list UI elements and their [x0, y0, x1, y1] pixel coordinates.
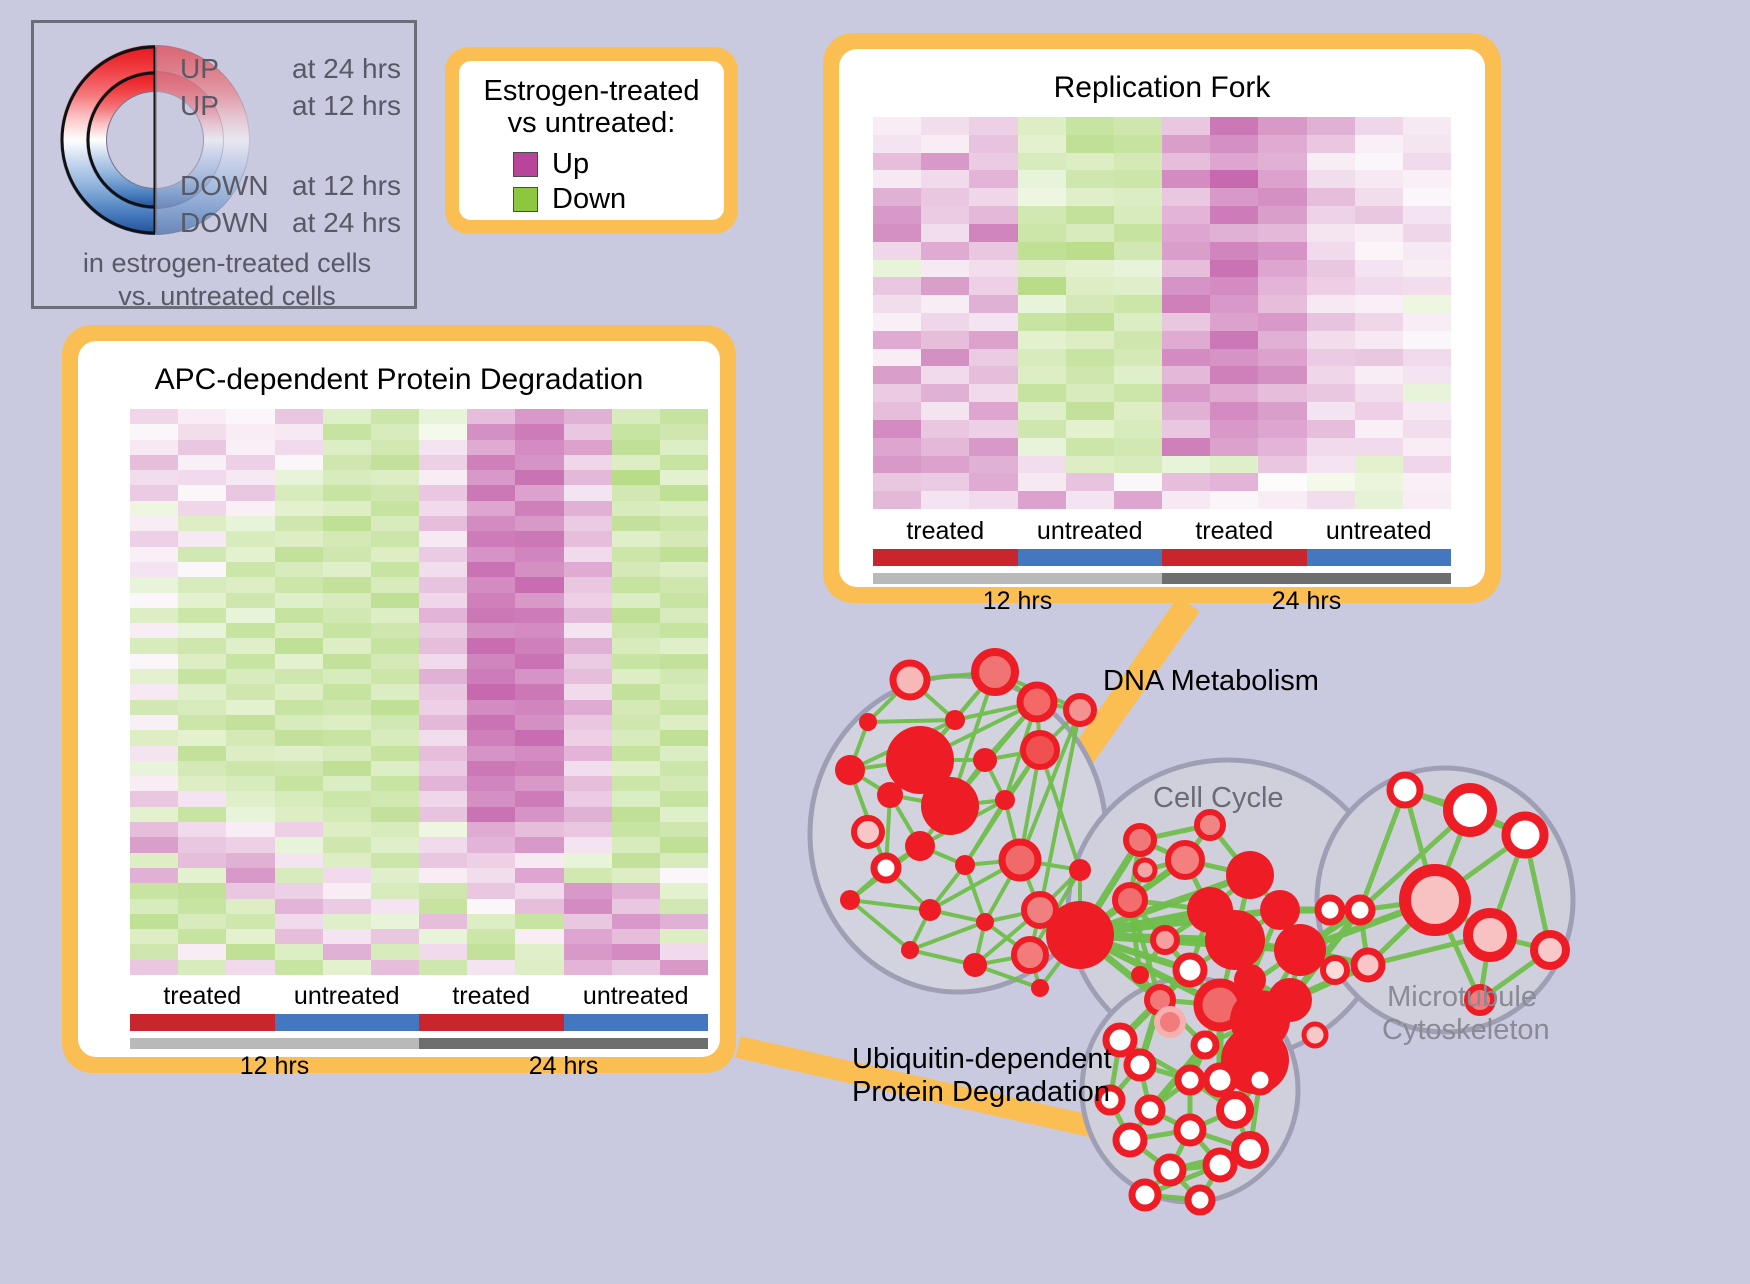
heatmap-cell — [1162, 313, 1210, 331]
heatmap-cell — [660, 700, 708, 715]
heatmap-cell — [419, 501, 467, 516]
heatmap-cell — [873, 135, 921, 153]
heatmap-cell — [1162, 153, 1210, 171]
heatmap-cell — [226, 807, 274, 822]
heatmap-cell — [275, 424, 323, 439]
heatmap-cell — [226, 684, 274, 699]
heatmap-cell — [130, 807, 178, 822]
heatmap-cell — [419, 960, 467, 975]
heatmap-cell — [275, 899, 323, 914]
heatmap-cell — [1018, 188, 1066, 206]
heatmap-cell — [1114, 384, 1162, 402]
heatmap-cell — [873, 206, 921, 224]
heatmap-cell — [419, 822, 467, 837]
heatmap-cell — [612, 868, 660, 883]
heatmap-cell — [1114, 491, 1162, 509]
heatmap-cell — [323, 654, 371, 669]
heatmap-cell — [1355, 402, 1403, 420]
heatmap-cell — [130, 547, 178, 562]
network-node — [1176, 956, 1204, 984]
heatmap-cell — [660, 776, 708, 791]
heatmap-cell — [921, 313, 969, 331]
heatmap-cell — [419, 807, 467, 822]
heatmap-cell — [1210, 295, 1258, 313]
heatmap-cell — [226, 593, 274, 608]
heatmap-cell — [660, 409, 708, 424]
network-node — [1177, 1117, 1203, 1143]
heatmap-cell — [467, 715, 515, 730]
heatmap-cell — [1066, 420, 1114, 438]
heatmap-cell — [1210, 153, 1258, 171]
heatmap-cell — [1258, 170, 1306, 188]
heatmap-cell — [419, 470, 467, 485]
heatmap-cell — [371, 822, 419, 837]
heatmap-cell — [371, 730, 419, 745]
heatmap-cell — [467, 837, 515, 852]
network-node — [874, 856, 898, 880]
heatmap-cell — [275, 440, 323, 455]
heatmap-cell — [969, 242, 1017, 260]
heatmap-cell — [1114, 420, 1162, 438]
heatmap-cell — [921, 206, 969, 224]
axis-label: untreated — [1018, 517, 1163, 546]
heatmap-cell — [467, 470, 515, 485]
heatmap-cell — [612, 547, 660, 562]
network-node — [893, 663, 927, 697]
group-bar-treated — [1162, 549, 1307, 566]
heatmap-cell — [660, 654, 708, 669]
heatmap-cell — [564, 837, 612, 852]
heatmap-cell — [467, 577, 515, 592]
heatmap-cell — [612, 593, 660, 608]
heatmap-cell — [130, 531, 178, 546]
heatmap-cell — [226, 654, 274, 669]
time-bar-12hrs — [130, 1038, 419, 1049]
heatmap-cell — [1258, 384, 1306, 402]
heatmap-cell — [969, 331, 1017, 349]
heatmap-cell — [1162, 331, 1210, 349]
heatmap-cell — [275, 791, 323, 806]
heatmap-cell — [1307, 206, 1355, 224]
heatmap-cell — [921, 349, 969, 367]
heatmap-cell — [1162, 384, 1210, 402]
heatmap-cell — [921, 260, 969, 278]
heatmap-cell — [564, 638, 612, 653]
heatmap-cell — [1403, 420, 1451, 438]
heatmap-cell — [921, 135, 969, 153]
color-key-time: at 12 hrs — [292, 90, 401, 122]
heatmap-cell — [371, 899, 419, 914]
heatmap-cell — [1162, 260, 1210, 278]
color-key-direction: DOWN — [180, 170, 292, 202]
heatmap-cell — [467, 638, 515, 653]
heatmap-cell — [1210, 349, 1258, 367]
heatmap-cell — [564, 669, 612, 684]
heatmap-cell — [130, 837, 178, 852]
heatmap-cell — [873, 224, 921, 242]
legend-title-line1: Estrogen-treated — [459, 75, 724, 107]
time-labels-apc: 12 hrs 24 hrs — [130, 1052, 708, 1081]
heatmap-cell — [130, 516, 178, 531]
heatmap-cell — [1018, 153, 1066, 171]
heatmap-cell — [1258, 349, 1306, 367]
heatmap-cell — [660, 914, 708, 929]
heatmap-cell — [1210, 473, 1258, 491]
heatmap-cell — [371, 424, 419, 439]
heatmap-cell — [323, 638, 371, 653]
heatmap-cell — [178, 547, 226, 562]
heatmap-cell — [419, 531, 467, 546]
panel-title-replication-fork: Replication Fork — [839, 71, 1485, 105]
heatmap-cell — [178, 440, 226, 455]
heatmap-cell — [130, 608, 178, 623]
heatmap-cell — [1355, 366, 1403, 384]
heatmap-cell — [130, 700, 178, 715]
heatmap-cell — [467, 455, 515, 470]
heatmap-cell — [515, 944, 563, 959]
heatmap-cell — [612, 623, 660, 638]
heatmap-cell — [1210, 224, 1258, 242]
heatmap-cell — [419, 746, 467, 761]
axis-label: treated — [419, 982, 564, 1011]
replication-fork-panel-inner: Replication Fork treated untreated treat… — [839, 49, 1485, 587]
heatmap-cell — [371, 883, 419, 898]
heatmap-cell — [1258, 188, 1306, 206]
heatmap-cell — [178, 409, 226, 424]
heatmap-cell — [1258, 420, 1306, 438]
heatmap-cell — [226, 868, 274, 883]
heatmap-cell — [226, 761, 274, 776]
heatmap-cell — [564, 868, 612, 883]
heatmap-cell — [969, 402, 1017, 420]
heatmap-cell — [612, 746, 660, 761]
color-key-caption-line2: vs. untreated cells — [46, 280, 408, 313]
heatmap-cell — [612, 715, 660, 730]
heatmap-cell — [564, 531, 612, 546]
heatmap-cell — [564, 547, 612, 562]
network-node — [1116, 1126, 1144, 1154]
heatmap-cell — [1258, 206, 1306, 224]
heatmap-cell — [1162, 473, 1210, 491]
heatmap-cell — [1307, 349, 1355, 367]
heatmap-cell — [969, 438, 1017, 456]
network-node — [1020, 685, 1054, 719]
heatmap-cell — [275, 776, 323, 791]
heatmap-cell — [467, 608, 515, 623]
axis-label: treated — [130, 982, 275, 1011]
heatmap-cell — [419, 485, 467, 500]
heatmap-cell — [371, 776, 419, 791]
heatmap-cell — [612, 761, 660, 776]
heatmap-cell — [612, 899, 660, 914]
network-node — [1534, 934, 1566, 966]
heatmap-cell — [564, 516, 612, 531]
time-group-bar-replication — [873, 573, 1451, 584]
heatmap-cell — [1114, 242, 1162, 260]
heatmap-cell — [275, 914, 323, 929]
heatmap-cell — [515, 914, 563, 929]
heatmap-cell — [1162, 349, 1210, 367]
heatmap-cell — [515, 608, 563, 623]
heatmap-cell — [226, 470, 274, 485]
heatmap-cell — [323, 531, 371, 546]
heatmap-cell — [130, 577, 178, 592]
heatmap-cell — [419, 700, 467, 715]
legend-panel-inner: Estrogen-treated vs untreated: Up Down — [459, 61, 724, 220]
heatmap-cell — [515, 929, 563, 944]
heatmap-cell — [1307, 260, 1355, 278]
heatmap-cell — [371, 562, 419, 577]
heatmap-cell — [1162, 438, 1210, 456]
heatmap-cell — [467, 776, 515, 791]
heatmap-cell — [323, 761, 371, 776]
heatmap-cell — [1114, 456, 1162, 474]
heatmap-cell — [226, 608, 274, 623]
heatmap-cell — [515, 715, 563, 730]
heatmap-cell — [130, 853, 178, 868]
heatmap-cell — [1114, 402, 1162, 420]
heatmap-cell — [564, 684, 612, 699]
heatmap-cell — [275, 960, 323, 975]
network-node — [1069, 859, 1091, 881]
network-node — [1220, 1095, 1250, 1125]
heatmap-cell — [660, 501, 708, 516]
heatmap-cell — [515, 501, 563, 516]
heatmap-cell — [323, 899, 371, 914]
heatmap-cell — [612, 914, 660, 929]
heatmap-cell — [419, 776, 467, 791]
heatmap-cell — [873, 420, 921, 438]
heatmap-cell — [419, 730, 467, 745]
heatmap-cell — [1403, 384, 1451, 402]
heatmap-cell — [515, 700, 563, 715]
network-node — [1468, 913, 1512, 957]
heatmap-cell — [178, 623, 226, 638]
heatmap-cell — [873, 491, 921, 509]
heatmap-cell — [275, 730, 323, 745]
heatmap-cell — [178, 501, 226, 516]
heatmap-cell — [226, 547, 274, 562]
legend-title-line2: vs untreated: — [459, 107, 724, 139]
heatmap-cell — [1066, 384, 1114, 402]
time-bar-12hrs — [873, 573, 1162, 584]
heatmap-cell — [1018, 402, 1066, 420]
heatmap-cell — [130, 944, 178, 959]
heatmap-cell — [371, 531, 419, 546]
heatmap-cell — [1355, 491, 1403, 509]
heatmap-cell — [1210, 438, 1258, 456]
heatmap-cell — [178, 470, 226, 485]
heatmap-cell — [1307, 473, 1355, 491]
heatmap-cell — [564, 562, 612, 577]
heatmap-cell — [130, 914, 178, 929]
heatmap-cell — [371, 547, 419, 562]
heatmap-cell — [467, 684, 515, 699]
heatmap-cell — [612, 455, 660, 470]
heatmap-cell — [515, 684, 563, 699]
heatmap-cell — [969, 420, 1017, 438]
heatmap-cell — [515, 761, 563, 776]
heatmap-cell — [921, 402, 969, 420]
heatmap-cell — [873, 170, 921, 188]
heatmap-cell — [1355, 117, 1403, 135]
heatmap-cell — [1066, 473, 1114, 491]
heatmap-cell — [419, 638, 467, 653]
heatmap-cell — [226, 929, 274, 944]
heatmap-cell — [1258, 438, 1306, 456]
heatmap-cell — [323, 944, 371, 959]
heatmap-cell — [1066, 366, 1114, 384]
heatmap-cell — [467, 944, 515, 959]
heatmap-cell — [1018, 277, 1066, 295]
heatmap-apc-degradation — [130, 409, 708, 975]
heatmap-cell — [419, 761, 467, 776]
axis-label: treated — [1162, 517, 1307, 546]
network-node — [1138, 1098, 1162, 1122]
heatmap-cell — [564, 715, 612, 730]
apc-degradation-panel: APC-dependent Protein Degradation treate… — [62, 325, 736, 1073]
network-node — [1157, 1009, 1183, 1035]
network-label-dna-metabolism: DNA Metabolism — [1103, 665, 1319, 698]
heatmap-cell — [371, 944, 419, 959]
heatmap-cell — [1403, 188, 1451, 206]
heatmap-cell — [1355, 260, 1403, 278]
heatmap-cell — [371, 455, 419, 470]
heatmap-cell — [226, 440, 274, 455]
heatmap-cell — [921, 153, 969, 171]
heatmap-cell — [275, 562, 323, 577]
heatmap-cell — [660, 944, 708, 959]
heatmap-cell — [226, 409, 274, 424]
heatmap-cell — [323, 684, 371, 699]
network-label-line1: Ubiquitin-dependent — [852, 1043, 1112, 1076]
heatmap-cell — [226, 455, 274, 470]
heatmap-cell — [1355, 384, 1403, 402]
axis-label: untreated — [564, 982, 709, 1011]
heatmap-cell — [1403, 295, 1451, 313]
heatmap-cell — [1258, 260, 1306, 278]
group-bar-untreated — [275, 1014, 420, 1031]
heatmap-cell — [467, 807, 515, 822]
heatmap-cell — [1114, 260, 1162, 278]
heatmap-cell — [275, 501, 323, 516]
color-key-row: UP at 12 hrs — [180, 90, 412, 122]
heatmap-cell — [1307, 384, 1355, 402]
heatmap-cell — [921, 331, 969, 349]
color-key-caption-line1: in estrogen-treated cells — [46, 247, 408, 280]
heatmap-cell — [1210, 313, 1258, 331]
heatmap-cell — [226, 899, 274, 914]
heatmap-cell — [660, 669, 708, 684]
heatmap-cell — [226, 746, 274, 761]
heatmap-cell — [130, 669, 178, 684]
heatmap-cell — [1066, 277, 1114, 295]
heatmap-cell — [275, 746, 323, 761]
heatmap-cell — [419, 791, 467, 806]
network-node — [976, 913, 994, 931]
heatmap-cell — [1066, 456, 1114, 474]
heatmap-cell — [275, 485, 323, 500]
heatmap-cell — [467, 853, 515, 868]
heatmap-cell — [178, 485, 226, 500]
heatmap-cell — [226, 623, 274, 638]
heatmap-cell — [419, 654, 467, 669]
network-node — [854, 818, 882, 846]
heatmap-cell — [564, 608, 612, 623]
color-key-time: at 24 hrs — [292, 53, 401, 85]
heatmap-cell — [1307, 224, 1355, 242]
network-node — [1248, 1068, 1272, 1092]
heatmap-cell — [371, 669, 419, 684]
legend-item-down: Down — [513, 183, 724, 216]
heatmap-cell — [515, 516, 563, 531]
heatmap-cell — [1258, 242, 1306, 260]
heatmap-cell — [612, 654, 660, 669]
heatmap-cell — [130, 654, 178, 669]
time-bar-24hrs — [419, 1038, 708, 1049]
heatmap-cell — [419, 669, 467, 684]
color-key-rows: UP at 24 hrs UP at 12 hrs DOWN at 12 hrs… — [180, 53, 412, 239]
network-node — [1274, 924, 1326, 976]
heatmap-replication-fork — [873, 117, 1451, 509]
heatmap-cell — [226, 960, 274, 975]
heatmap-cell — [1307, 117, 1355, 135]
heatmap-cell — [612, 577, 660, 592]
heatmap-cell — [1114, 135, 1162, 153]
heatmap-cell — [467, 761, 515, 776]
heatmap-cell — [178, 608, 226, 623]
heatmap-cell — [275, 638, 323, 653]
network-node — [1260, 890, 1300, 930]
heatmap-cell — [467, 516, 515, 531]
network-node — [1304, 1024, 1326, 1046]
heatmap-cell — [612, 944, 660, 959]
network-node — [955, 855, 975, 875]
heatmap-cell — [873, 260, 921, 278]
heatmap-cell — [1403, 331, 1451, 349]
network-node — [1354, 951, 1382, 979]
color-key-direction: DOWN — [180, 207, 292, 239]
heatmap-cell — [226, 669, 274, 684]
heatmap-cell — [467, 562, 515, 577]
heatmap-cell — [371, 440, 419, 455]
heatmap-cell — [1018, 260, 1066, 278]
heatmap-cell — [873, 366, 921, 384]
heatmap-cell — [1114, 206, 1162, 224]
heatmap-cell — [1066, 224, 1114, 242]
heatmap-cell — [1355, 456, 1403, 474]
heatmap-cell — [323, 807, 371, 822]
heatmap-cell — [660, 791, 708, 806]
replication-fork-panel: Replication Fork treated untreated treat… — [823, 33, 1501, 603]
heatmap-cell — [660, 638, 708, 653]
heatmap-cell — [1355, 313, 1403, 331]
heatmap-cell — [226, 914, 274, 929]
network-node — [1031, 979, 1049, 997]
heatmap-cell — [660, 593, 708, 608]
heatmap-cell — [226, 776, 274, 791]
heatmap-cell — [1355, 206, 1403, 224]
heatmap-cell — [660, 424, 708, 439]
heatmap-cell — [969, 313, 1017, 331]
heatmap-cell — [515, 577, 563, 592]
heatmap-cell — [178, 746, 226, 761]
heatmap-cell — [1355, 188, 1403, 206]
heatmap-cell — [130, 730, 178, 745]
heatmap-cell — [419, 944, 467, 959]
heatmap-cell — [1355, 473, 1403, 491]
heatmap-cell — [1066, 331, 1114, 349]
